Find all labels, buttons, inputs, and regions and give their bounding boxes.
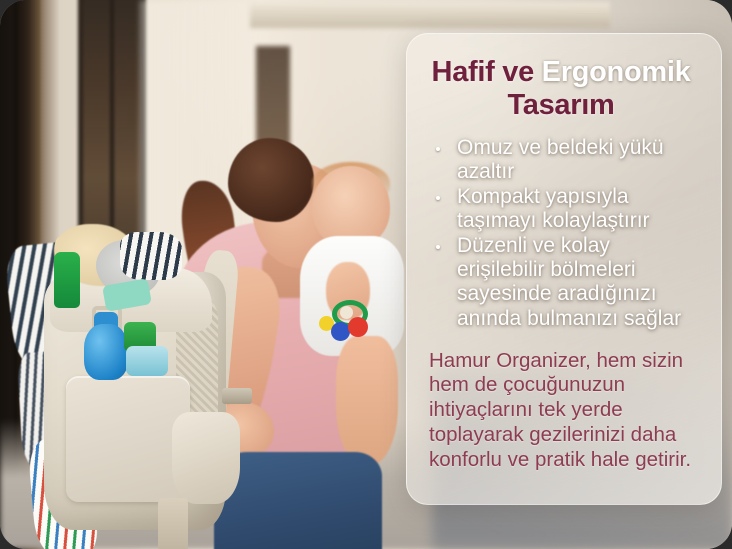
card-title: Hafif ve Ergonomik Tasarım xyxy=(421,56,701,122)
mother-hair xyxy=(228,138,314,222)
backpack-buckle xyxy=(222,388,252,404)
title-highlight: Ergonomik xyxy=(542,56,691,88)
backpack-lower-strap xyxy=(158,498,188,549)
title-part-2: Tasarım xyxy=(508,89,615,121)
card-description-paragraph: Hamur Organizer, hem sizin hem de çocuğu… xyxy=(421,349,701,473)
building-cornice xyxy=(250,2,610,28)
striped-cloth-top xyxy=(120,232,182,280)
blue-water-bottle xyxy=(84,324,128,380)
backpack-side-pouch xyxy=(172,412,240,504)
green-bottle-tall xyxy=(54,252,80,308)
teal-container xyxy=(126,346,168,376)
feature-glass-card: Hafif ve Ergonomik Tasarım Omuz ve belde… xyxy=(406,33,722,505)
title-part-1: Hafif ve xyxy=(432,56,542,88)
promo-banner: Hafif ve Ergonomik Tasarım Omuz ve belde… xyxy=(0,0,732,549)
rattle-toy-icon xyxy=(318,300,374,352)
list-item: Düzenli ve kolay erişilebilir bölmeleri … xyxy=(429,234,701,331)
list-item: Omuz ve beldeki yükü azaltır xyxy=(429,136,701,184)
list-item: Kompakt yapısıyla taşımayı kolaylaştırır xyxy=(429,185,701,233)
baby-leg xyxy=(336,336,398,466)
feature-bullet-list: Omuz ve beldeki yükü azaltır Kompakt yap… xyxy=(421,136,701,331)
